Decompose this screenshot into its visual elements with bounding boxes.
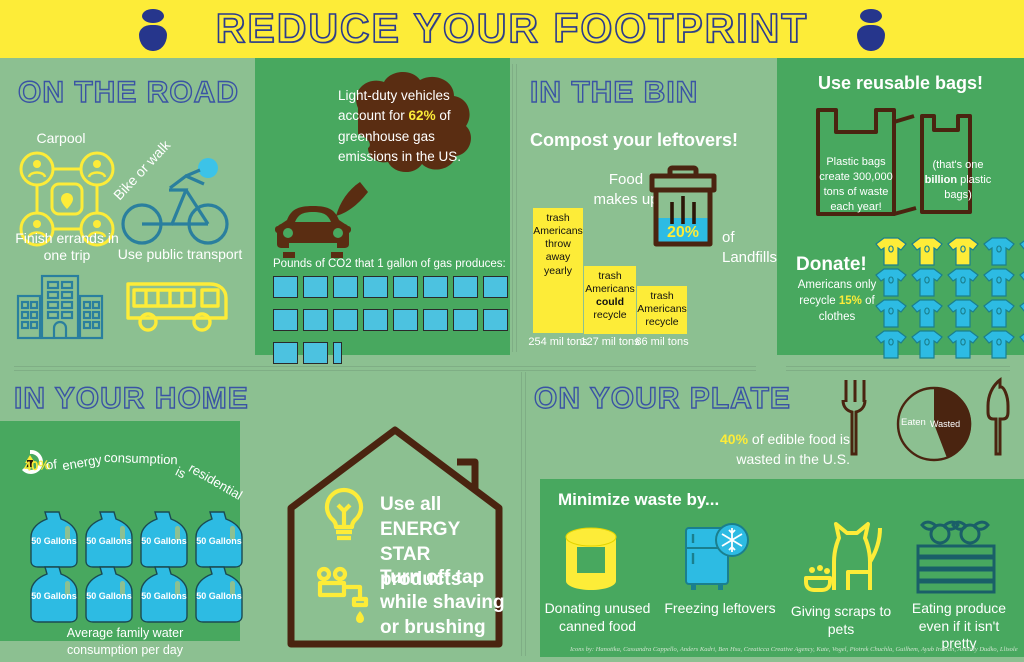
bar-line: Americans: [637, 303, 687, 316]
tshirt-icon: [1017, 329, 1024, 360]
jug-caption: Average family water consumption per day: [35, 625, 215, 659]
section-title-bin: IN THE BIN: [530, 76, 698, 110]
tshirt-icon: [981, 329, 1017, 360]
minimize-label-produce: Eating produce even if it isn't pretty: [900, 600, 1018, 653]
section-title-plate: ON YOUR PLATE: [534, 382, 791, 416]
arc-word: of: [45, 456, 57, 472]
bin-subtitle: Compost your leftovers!: [530, 130, 738, 151]
tshirt-icon: [1017, 267, 1024, 298]
co2-square: [483, 276, 508, 298]
jug-label: 50 Gallons: [85, 591, 133, 601]
bag-text-1: Plastic bags create 300,000 tons of wast…: [817, 155, 895, 214]
tshirt-icon: [945, 298, 981, 329]
bar-value-3: 86 mil tons: [633, 336, 691, 349]
co2-pictogram: [273, 276, 523, 375]
knife-icon: [978, 378, 1012, 456]
tshirt-icon: [873, 298, 909, 329]
lightbulb-icon: [320, 487, 368, 543]
tshirt-icon: [945, 267, 981, 298]
bar-line: recycle: [584, 309, 636, 322]
jug-label: 50 Gallons: [30, 591, 78, 601]
co2-square: [393, 309, 418, 331]
jug-label: 50 Gallons: [195, 536, 243, 546]
co2-square: [483, 309, 508, 331]
of-landfills-label: of Landfills: [722, 228, 778, 267]
tshirt-icon: [909, 267, 945, 298]
tshirt-icon: [981, 267, 1017, 298]
divider-horizontal-right: [786, 366, 1010, 371]
minimize-label-canned: Donating unused canned food: [535, 600, 660, 635]
co2-square: [303, 309, 328, 331]
jug-label: 50 Gallons: [30, 536, 78, 546]
plate-stat-text: of edible food is wasted in the U.S.: [736, 431, 850, 467]
page-title: REDUCE YOUR FOOTPRINT: [0, 5, 1024, 52]
tshirt-icon: [945, 329, 981, 360]
pie-label-wasted: Wasted: [930, 419, 960, 429]
produce-crate-icon: [912, 520, 1000, 594]
credits-line: Icons by: Hanotika, Cassandra Cappello, …: [570, 646, 1018, 653]
bar-line: throw away: [533, 238, 583, 264]
tshirt-icon: [981, 298, 1017, 329]
bar-value-text: 127 mil tons: [580, 336, 639, 348]
divider-vertical-bottom: [521, 372, 526, 656]
co2-square: [273, 342, 298, 364]
co2-square: [333, 276, 358, 298]
arc-word: consumption: [104, 450, 178, 468]
infographic-root: REDUCE YOUR FOOTPRINT ON THE ROAD Carpoo…: [0, 0, 1024, 662]
minimize-title: Minimize waste by...: [558, 490, 719, 510]
bar-value-2: 127 mil tons: [580, 336, 640, 349]
co2-square: [423, 276, 448, 298]
co2-square: [453, 309, 478, 331]
divider-vertical-top: [512, 64, 517, 352]
co2-square: [423, 309, 448, 331]
trash-bin-icon: [648, 166, 718, 266]
bar-line: trash: [637, 290, 687, 303]
bar-line: trash: [533, 212, 583, 225]
tshirt-icon: [909, 298, 945, 329]
co2-square: [273, 276, 298, 298]
jug-label: 50 Gallons: [85, 536, 133, 546]
bag-text-2-bold: billion: [925, 174, 957, 186]
co2-square: [333, 309, 358, 331]
bin-percent-label: 20%: [648, 224, 718, 242]
bag-text-2: (that's one billion plastic bags): [922, 158, 994, 203]
jug-label: 50 Gallons: [140, 591, 188, 601]
header-bar: REDUCE YOUR FOOTPRINT: [0, 0, 1024, 58]
plate-stat: 40% of edible food is wasted in the U.S.: [700, 430, 850, 469]
bar-line-bold: could: [584, 296, 636, 309]
energy-arc-text: 40% of energy consumption is residential: [0, 421, 240, 511]
bag-text-2-a: (that's one: [932, 159, 983, 171]
car-icon: [273, 200, 353, 260]
house-tip-turn-off-tap: Turn off tap while shaving or brushing: [380, 565, 520, 640]
refrigerator-icon: [680, 522, 752, 594]
minimize-label-pets: Giving scraps to pets: [782, 603, 900, 638]
plate-stat-highlight: 40%: [720, 431, 748, 447]
tshirt-icon: [873, 267, 909, 298]
section-title-home: IN YOUR HOME: [14, 382, 249, 416]
tshirt-icon: [981, 236, 1017, 267]
co2-square: [273, 309, 298, 331]
donate-title: Donate!: [796, 254, 867, 276]
tshirt-icon: [873, 329, 909, 360]
pie-label-eaten: Eaten: [901, 417, 926, 428]
jug-label: 50 Gallons: [195, 591, 243, 601]
co2-square-half: [333, 342, 342, 364]
tshirt-icon-highlighted: [909, 236, 945, 267]
cat-bowl-icon: [798, 520, 888, 594]
jug-label: 50 Gallons: [140, 536, 188, 546]
bar-value-1: 254 mil tons: [528, 336, 588, 349]
co2-square: [303, 276, 328, 298]
co2-square: [363, 309, 388, 331]
tshirt-icon: [909, 329, 945, 360]
label-bike-or-walk-wrap: Bike or walk: [104, 138, 180, 208]
bar-line: trash: [584, 270, 636, 283]
co2-caption: Pounds of CO2 that 1 gallon of gas produ…: [273, 258, 506, 270]
arc-word: energy: [61, 452, 103, 474]
cloud-highlight: 62%: [409, 108, 436, 123]
buildings-icon: [16, 272, 104, 340]
label-bike-or-walk: Bike or walk: [110, 137, 173, 203]
donate-highlight: 15%: [839, 295, 862, 307]
bar-could-recycle: trash Americans could recycle: [584, 266, 636, 334]
shirts-pictogram: [873, 236, 1024, 360]
tshirt-icon-highlighted: [945, 236, 981, 267]
cloud-text: Light-duty vehicles account for 62% of g…: [338, 86, 473, 167]
bar-value-text: 254 mil tons: [528, 336, 587, 348]
bar-throw-away: trash Americans throw away yearly: [533, 208, 583, 333]
bus-icon: [122, 272, 232, 334]
co2-square: [393, 276, 418, 298]
bar-recycle: trash Americans recycle: [637, 286, 687, 334]
tshirt-icon-highlighted: [873, 236, 909, 267]
label-public-transport: Use public transport: [110, 246, 250, 263]
donate-text: Americans only recycle 15% of clothes: [789, 277, 885, 325]
bar-line: recycle: [637, 316, 687, 329]
bar-line: yearly: [533, 265, 583, 278]
canned-food-icon: [560, 525, 622, 593]
divider-horizontal-left: [14, 366, 756, 371]
tshirt-icon: [1017, 236, 1024, 267]
tshirt-icon: [1017, 298, 1024, 329]
bar-line: Americans: [533, 225, 583, 238]
arc-word: residential: [186, 460, 245, 503]
minimize-label-freezing: Freezing leftovers: [660, 600, 780, 618]
co2-square: [363, 276, 388, 298]
label-carpool: Carpool: [6, 130, 116, 147]
faucet-icon: [314, 565, 372, 627]
co2-square: [303, 342, 328, 364]
section-title-road: ON THE ROAD: [18, 76, 239, 110]
bar-value-text: 86 mil tons: [635, 336, 688, 348]
bags-title: Use reusable bags!: [777, 73, 1024, 94]
co2-square: [453, 276, 478, 298]
bar-line: Americans: [584, 283, 636, 296]
